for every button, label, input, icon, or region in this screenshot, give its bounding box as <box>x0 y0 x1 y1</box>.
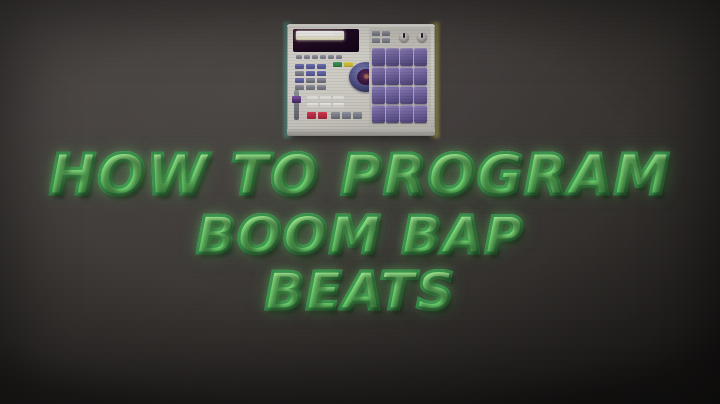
title-line-3: BEATS <box>0 266 720 318</box>
title-line-1: HOW TO PROGRAM <box>0 148 720 204</box>
title-overlay: HOW TO PROGRAM BOOM BAP BEATS <box>0 148 720 318</box>
mpc-scanline-overlay <box>287 24 435 136</box>
mpc-drum-machine-photo <box>287 24 435 136</box>
title-line-2: BOOM BAP <box>0 210 720 262</box>
title-line-3-text: BEATS <box>265 262 456 322</box>
title-line-1-text: HOW TO PROGRAM <box>49 143 671 208</box>
title-line-2-text: BOOM BAP <box>196 206 524 266</box>
thumbnail-canvas: HOW TO PROGRAM BOOM BAP BEATS <box>0 0 720 404</box>
mpc-chassis <box>287 24 435 136</box>
